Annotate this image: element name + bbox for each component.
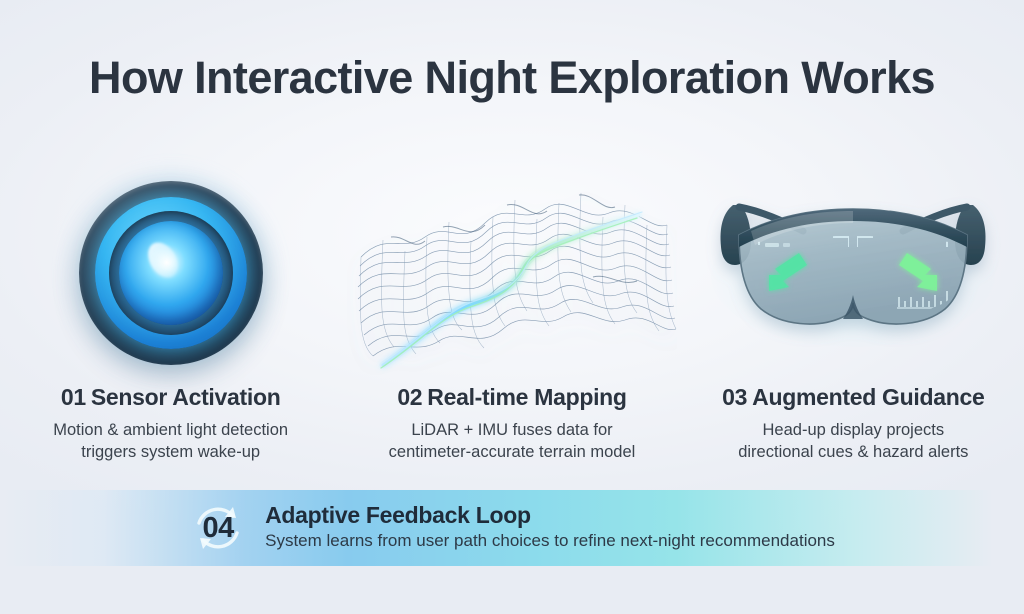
step-desc-line2-2: centimeter-accurate terrain model — [389, 442, 636, 464]
banner-text-block: Adaptive Feedback Loop System learns fro… — [265, 502, 835, 554]
step-heading-1: 01Sensor Activation — [61, 384, 281, 411]
step-desc-line2-1: triggers system wake-up — [53, 442, 288, 464]
step-column-3: 03Augmented Guidance Head-up display pro… — [683, 165, 1024, 475]
banner-title: Adaptive Feedback Loop — [265, 502, 835, 529]
banner-step-number: 04 — [202, 512, 233, 545]
lens-core-glow — [119, 221, 223, 325]
step-desc-line1-1: Motion & ambient light detection — [53, 421, 288, 439]
step-column-1: 01Sensor Activation Motion & ambient lig… — [0, 165, 341, 475]
step-description-1: Motion & ambient light detection trigger… — [53, 420, 288, 464]
ar-glasses-hud-icon — [703, 183, 1003, 363]
wireframe-terrain-mesh-icon — [347, 165, 677, 380]
step-desc-line1-2: LiDAR + IMU fuses data for — [411, 421, 612, 439]
step-name-3: Augmented Guidance — [752, 384, 984, 410]
augmented-guidance-illustration — [683, 165, 1024, 380]
glowing-sensor-lens-icon — [71, 173, 271, 373]
step-desc-line1-3: Head-up display projects — [763, 421, 945, 439]
step-description-3: Head-up display projects directional cue… — [738, 420, 968, 464]
hud-marker-bar — [765, 243, 779, 247]
step-number-2: 02 — [397, 384, 422, 410]
step-column-2: 02Real-time Mapping LiDAR + IMU fuses da… — [341, 165, 682, 475]
step-name-2: Real-time Mapping — [427, 384, 626, 410]
step-number-3: 03 — [722, 384, 747, 410]
step-heading-3: 03Augmented Guidance — [722, 384, 984, 411]
step-name-1: Sensor Activation — [91, 384, 281, 410]
terrain-glow-path — [381, 212, 642, 368]
page-title: How Interactive Night Exploration Works — [0, 52, 1024, 104]
step-heading-2: 02Real-time Mapping — [397, 384, 626, 411]
adaptive-feedback-banner: 04 Adaptive Feedback Loop System learns … — [0, 490, 1024, 566]
step-number-1: 01 — [61, 384, 86, 410]
banner-subtitle: System learns from user path choices to … — [265, 530, 835, 552]
steps-row: 01Sensor Activation Motion & ambient lig… — [0, 165, 1024, 475]
step-desc-line2-3: directional cues & hazard alerts — [738, 442, 968, 464]
banner-content: 04 Adaptive Feedback Loop System learns … — [0, 490, 1024, 566]
sensor-activation-illustration — [0, 165, 341, 380]
infographic-page: How Interactive Night Exploration Works … — [0, 0, 1024, 614]
hud-marker-dot — [783, 243, 790, 247]
lens-specular-highlight — [142, 237, 184, 283]
realtime-mapping-illustration — [341, 165, 682, 380]
step-description-2: LiDAR + IMU fuses data for centimeter-ac… — [389, 420, 636, 464]
banner-loop-badge: 04 — [189, 499, 247, 557]
